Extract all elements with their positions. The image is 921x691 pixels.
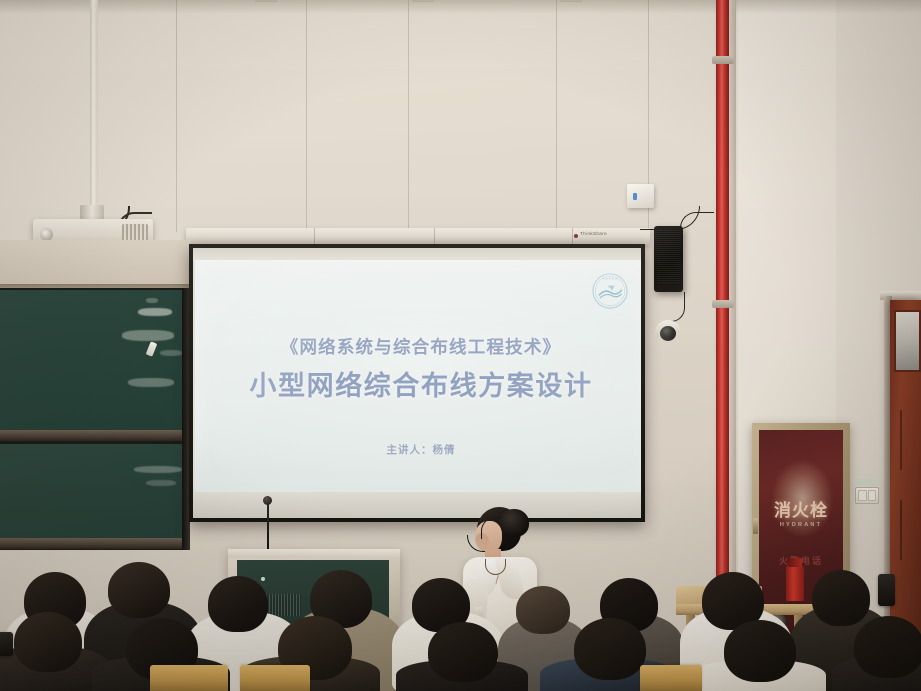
student-head: [854, 616, 921, 678]
slide-main-title: 小型网络综合布线方案设计: [195, 364, 641, 403]
wall-band: [0, 240, 190, 290]
auditorium-seat: [640, 665, 702, 691]
screen-bracket: [255, 0, 277, 2]
university-emblem-icon: ★ ★ ★ ★ ★: [591, 272, 629, 310]
chalk-tray: [0, 538, 188, 549]
light-switch[interactable]: [855, 487, 879, 504]
phone-recording[interactable]: [878, 574, 895, 606]
presenter-hair-bun: [499, 509, 529, 537]
wall-seam: [408, 0, 409, 232]
auditorium-seat: [150, 665, 228, 691]
screen-surface: ★ ★ ★ ★ ★ 《网络系统与综合布线工程技术》 小型网络综合布线方案设计 主…: [193, 248, 641, 518]
microphone-head-icon: [263, 496, 272, 505]
student-head: [428, 622, 498, 682]
student-head: [516, 586, 570, 634]
pipe-clamp: [712, 300, 734, 308]
projected-slide: ★ ★ ★ ★ ★ 《网络系统与综合布线工程技术》 小型网络综合布线方案设计 主…: [195, 260, 641, 492]
audience: pipe the frog NOMAD: [0, 560, 921, 691]
slide-presenter-line: 主讲人：杨倩: [195, 442, 641, 457]
ceiling-shadow: [0, 0, 921, 14]
screen-brand-label: ThinkShare: [580, 231, 607, 236]
brand-mark-icon: [574, 234, 578, 238]
phone-recording[interactable]: [0, 632, 13, 656]
classroom-photo: ThinkShare: [0, 0, 921, 691]
wall-seam: [306, 0, 307, 232]
door-glass-panel: [894, 310, 921, 372]
auditorium-seat: [240, 665, 310, 691]
dome-camera: [655, 320, 681, 342]
student-head: [108, 562, 170, 618]
slide-course-title: 《网络系统与综合布线工程技术》: [195, 334, 641, 359]
student-head: [208, 576, 268, 632]
camera-lens-icon: [660, 326, 676, 341]
wall-seam: [556, 0, 557, 232]
projection-screen: ★ ★ ★ ★ ★ 《网络系统与综合布线工程技术》 小型网络综合布线方案设计 主…: [189, 244, 645, 522]
student-head: [14, 612, 82, 672]
switch-key[interactable]: [858, 490, 867, 501]
student-head: [812, 570, 870, 626]
wall-conduit: [90, 0, 98, 228]
speaker-grill: [657, 230, 680, 283]
switch-label-tag: [857, 479, 877, 485]
junction-box: [627, 184, 654, 208]
cabinet-latch[interactable]: [753, 518, 758, 534]
console-desktop: [228, 549, 400, 558]
blackboard-panel-upper: [0, 290, 186, 430]
wall-speaker: [654, 226, 683, 292]
hydrant-label-cn: 消火栓: [759, 496, 843, 521]
chalk-tray: [0, 430, 188, 441]
screen-bracket: [560, 0, 582, 2]
microphone-stand: [267, 501, 269, 553]
hydrant-label-en: HYDRANT: [759, 522, 843, 528]
screen-bracket: [412, 0, 434, 2]
pipe-clamp: [712, 56, 734, 64]
fire-pipe: [716, 0, 729, 596]
pipe-shadow: [729, 0, 736, 596]
blackboard-panel-lower: [0, 444, 186, 540]
status-led-icon: [633, 193, 637, 200]
chalk-piece: [146, 341, 158, 357]
wall-seam: [176, 0, 177, 232]
student-head: [724, 620, 796, 682]
blackboard: [0, 288, 190, 550]
student-head: [574, 618, 646, 680]
switch-key[interactable]: [868, 490, 877, 501]
